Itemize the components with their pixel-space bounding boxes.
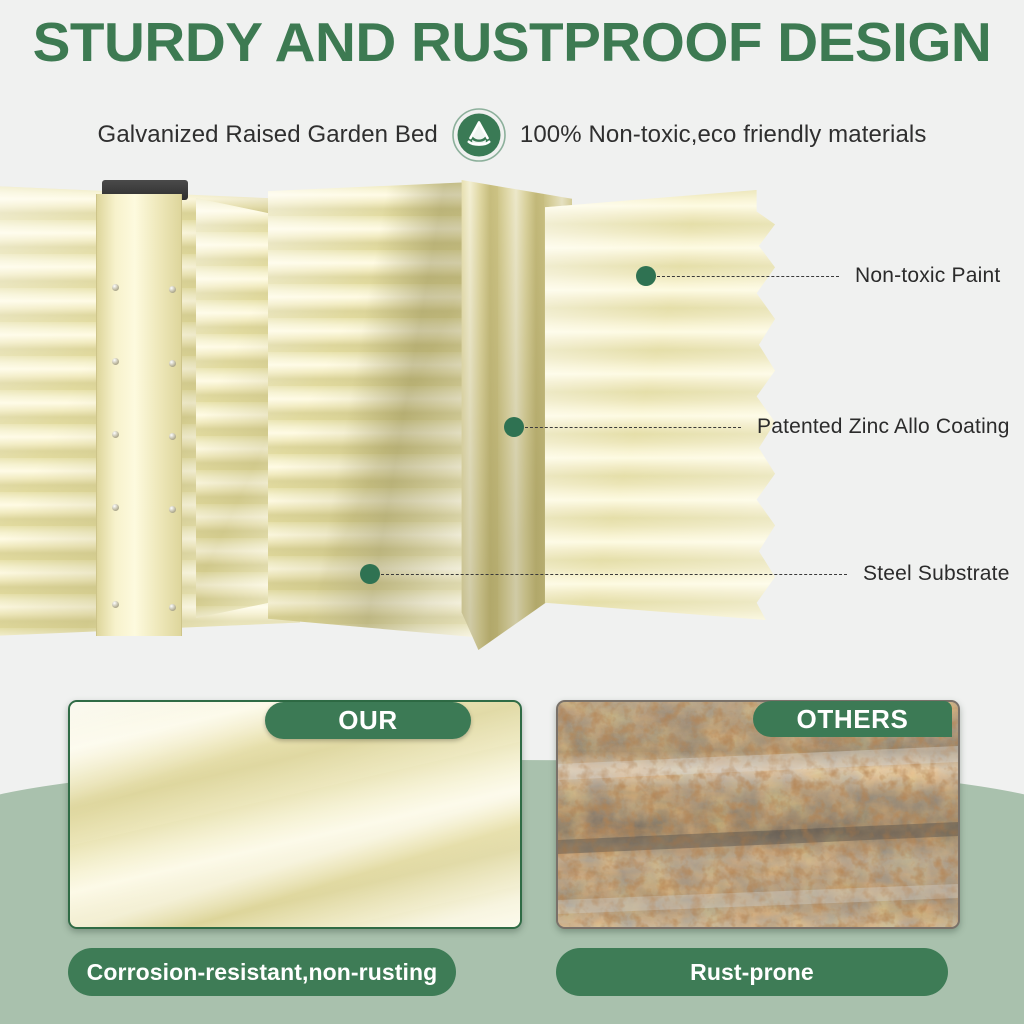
others-caption-pill: Rust-prone [556, 948, 948, 996]
callout-leader-line [381, 574, 847, 575]
screw [112, 601, 119, 608]
callout-label: Steel Substrate [863, 562, 1010, 586]
screw [169, 360, 176, 367]
callout-zinc-coating: Patented Zinc Allo Coating [504, 414, 1010, 440]
our-caption-label: Corrosion-resistant,non-rusting [87, 959, 438, 986]
others-badge-label: OTHERS [797, 704, 909, 735]
page-title: STURDY AND RUSTPROOF DESIGN [0, 14, 1024, 72]
infographic-canvas: STURDY AND RUSTPROOF DESIGN Galvanized R… [0, 0, 1024, 1024]
callout-steel-substrate: Steel Substrate [360, 561, 1010, 587]
screw [169, 604, 176, 611]
screw [112, 284, 119, 291]
our-caption-pill: Corrosion-resistant,non-rusting [68, 948, 456, 996]
callout-dot [504, 417, 524, 437]
post-body [96, 194, 182, 636]
callout-label: Non-toxic Paint [855, 264, 1000, 288]
corner-post [96, 176, 200, 636]
our-badge: OUR [265, 702, 471, 739]
callout-non-toxic-paint: Non-toxic Paint [636, 263, 1000, 289]
eco-recycle-icon [452, 108, 506, 162]
screw [112, 431, 119, 438]
callout-leader-line [657, 276, 839, 277]
subtitle-row: Galvanized Raised Garden Bed 100% Non-to… [0, 112, 1024, 158]
subtitle-left: Galvanized Raised Garden Bed [98, 121, 438, 149]
our-badge-label: OUR [338, 705, 398, 736]
callout-label: Patented Zinc Allo Coating [757, 415, 1010, 439]
others-badge: OTHERS [753, 701, 952, 737]
layer-non-toxic-paint [545, 190, 775, 620]
screw [169, 506, 176, 513]
callout-leader-line [525, 427, 741, 428]
screw [169, 286, 176, 293]
screw [112, 358, 119, 365]
callout-dot [360, 564, 380, 584]
callout-dot [636, 266, 656, 286]
subtitle-right: 100% Non-toxic,eco friendly materials [520, 121, 927, 149]
others-caption-label: Rust-prone [690, 959, 814, 986]
screw [112, 504, 119, 511]
screw [169, 433, 176, 440]
